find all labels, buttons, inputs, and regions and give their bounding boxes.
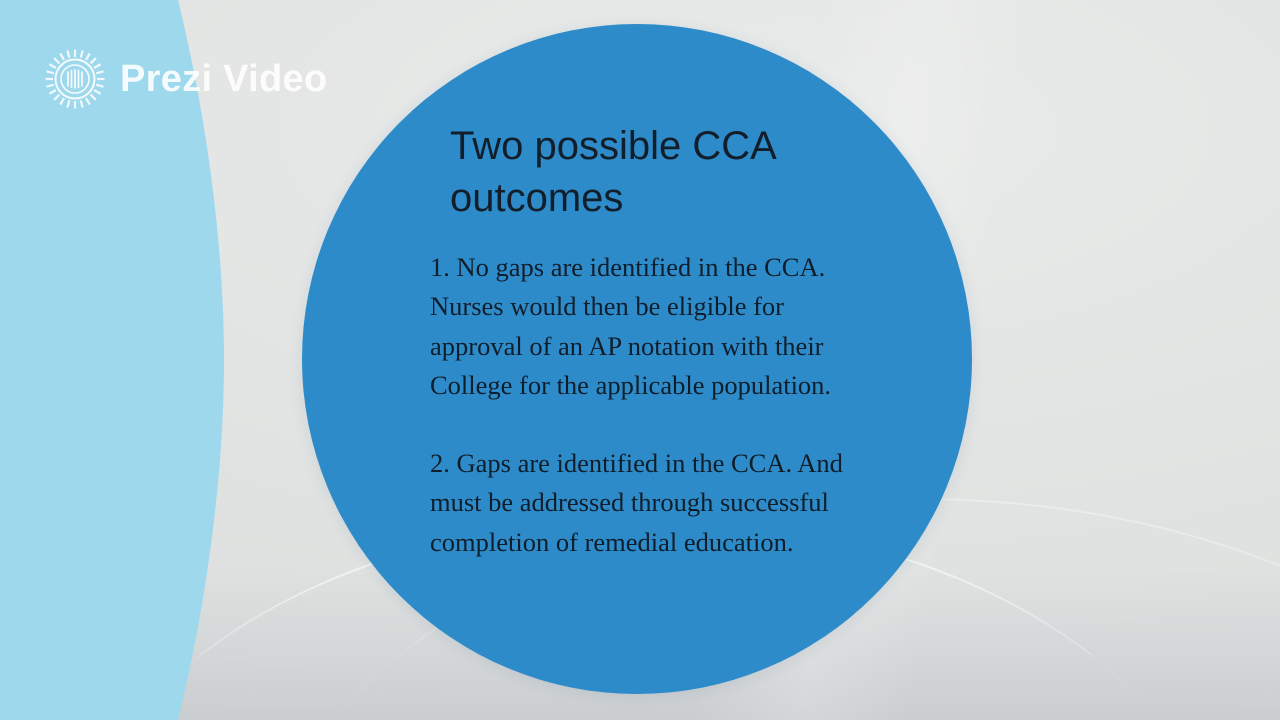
- page-title: Two possible CCA outcomes: [430, 120, 870, 224]
- watermark-brand-label: Prezi Video: [120, 60, 327, 98]
- content-circle: Two possible CCA outcomes 1. No gaps are…: [302, 24, 972, 694]
- outcome-paragraph-2: 2. Gaps are identified in the CCA. And m…: [430, 444, 862, 562]
- prezi-sunburst-icon: [44, 48, 106, 110]
- circle-content: Two possible CCA outcomes 1. No gaps are…: [430, 120, 870, 562]
- presentation-slide: Prezi Video Two possible CCA outcomes 1.…: [0, 0, 1280, 720]
- prezi-video-watermark: Prezi Video: [44, 48, 327, 110]
- outcome-paragraph-1: 1. No gaps are identified in the CCA. Nu…: [430, 248, 862, 406]
